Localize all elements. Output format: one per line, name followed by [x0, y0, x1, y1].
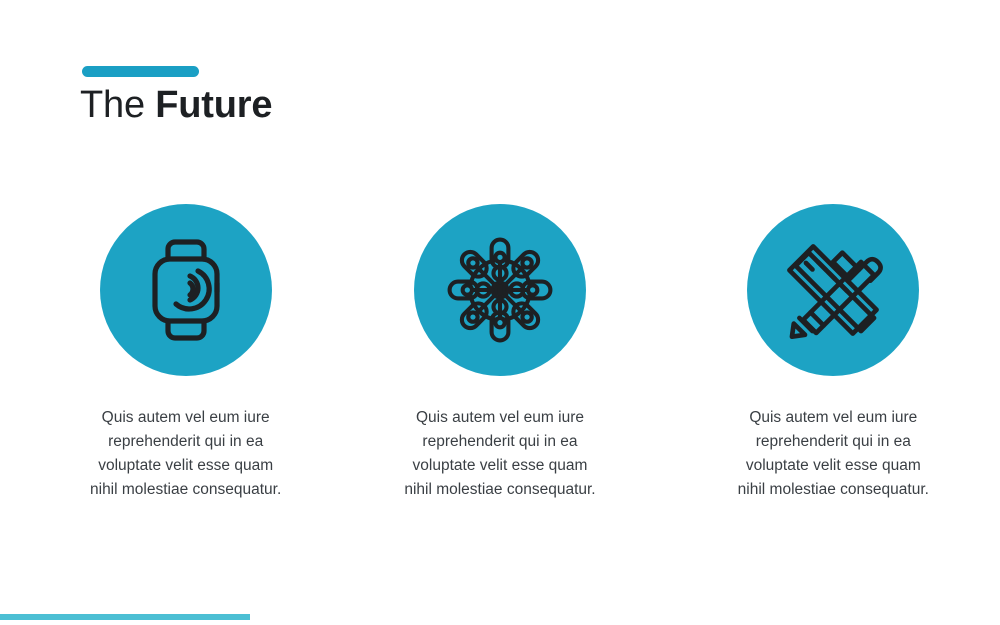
page-title-bold: Future: [155, 84, 272, 126]
smartwatch-icon: [138, 235, 234, 345]
page-title-light: The: [80, 84, 145, 126]
feature-card-1-text: Quis autem vel eum iure reprehenderit qu…: [86, 406, 286, 502]
feature-card-2-text: Quis autem vel eum iure reprehenderit qu…: [400, 406, 600, 502]
feature-card-1: Quis autem vel eum iure reprehenderit qu…: [0, 204, 333, 502]
icon-circle-2[interactable]: [414, 204, 586, 376]
title-accent-bar: [82, 66, 199, 77]
feature-columns: Quis autem vel eum iure reprehenderit qu…: [0, 204, 1000, 502]
icon-circle-3[interactable]: [747, 204, 919, 376]
page-title: The Future: [80, 82, 272, 128]
slide-canvas: The Future: [0, 0, 1000, 625]
feature-card-3-text: Quis autem vel eum iure reprehenderit qu…: [733, 406, 933, 502]
feature-card-2: Quis autem vel eum iure reprehenderit qu…: [333, 204, 666, 502]
feature-card-3: Quis autem vel eum iure reprehenderit qu…: [667, 204, 1000, 502]
design-tools-icon: [777, 234, 889, 346]
icon-circle-1[interactable]: [100, 204, 272, 376]
molecule-atom-icon: [444, 234, 556, 346]
footer-accent-bar: [0, 614, 250, 620]
